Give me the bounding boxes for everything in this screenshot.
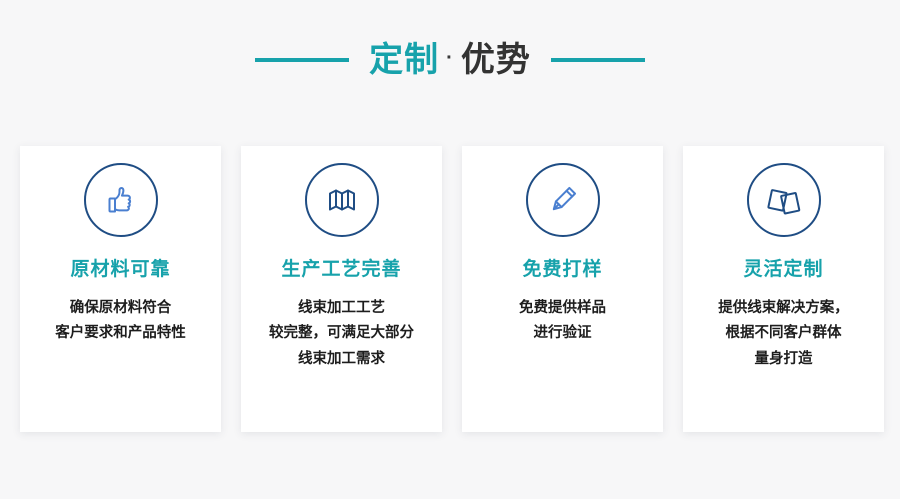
page-title: 定制 · 优势	[369, 43, 531, 77]
card-body-line: 确保原材料符合	[55, 296, 186, 321]
card-title: 灵活定制	[743, 259, 823, 282]
feature-card[interactable]: 生产工艺完善 线束加工工艺 较完整，可满足大部分 线束加工需求	[241, 146, 442, 432]
card-body-line: 较完整，可满足大部分	[269, 321, 414, 346]
card-body-line: 根据不同客户群体	[718, 321, 849, 346]
card-body-line: 免费提供样品	[519, 296, 606, 321]
page-title-separator-dot: ·	[441, 48, 459, 68]
card-body-line: 客户要求和产品特性	[55, 321, 186, 346]
icon-badge	[526, 163, 600, 237]
section-header: 定制 · 优势	[0, 30, 900, 90]
thumbs-up-icon	[101, 180, 141, 220]
card-body-line: 提供线束解决方案，	[718, 296, 849, 321]
pencil-icon	[543, 180, 583, 220]
card-body-line: 线束加工工艺	[269, 296, 414, 321]
feature-card[interactable]: 免费打样 免费提供样品 进行验证	[462, 146, 663, 432]
stacked-pages-icon	[764, 180, 804, 220]
card-body-line: 量身打造	[718, 347, 849, 372]
card-body: 提供线束解决方案， 根据不同客户群体 量身打造	[710, 296, 857, 372]
page-title-primary: 定制	[369, 43, 439, 77]
icon-badge	[84, 163, 158, 237]
card-body: 线束加工工艺 较完整，可满足大部分 线束加工需求	[261, 296, 422, 372]
feature-card-list: 原材料可靠 确保原材料符合 客户要求和产品特性 生产工艺完善 线束加工工艺 较完…	[20, 146, 886, 432]
card-body: 确保原材料符合 客户要求和产品特性	[47, 296, 194, 347]
header-rule-left	[255, 58, 349, 62]
card-body-line: 线束加工需求	[269, 347, 414, 372]
icon-badge	[747, 163, 821, 237]
card-title: 生产工艺完善	[281, 259, 401, 282]
card-title: 原材料可靠	[70, 259, 170, 282]
icon-badge	[305, 163, 379, 237]
card-body-line: 进行验证	[519, 321, 606, 346]
card-body: 免费提供样品 进行验证	[511, 296, 614, 347]
header-rule-right	[551, 58, 645, 62]
card-title: 免费打样	[522, 259, 602, 282]
folded-map-icon	[322, 180, 362, 220]
page-title-secondary: 优势	[461, 43, 531, 77]
feature-card[interactable]: 灵活定制 提供线束解决方案， 根据不同客户群体 量身打造	[683, 146, 884, 432]
feature-card[interactable]: 原材料可靠 确保原材料符合 客户要求和产品特性	[20, 146, 221, 432]
